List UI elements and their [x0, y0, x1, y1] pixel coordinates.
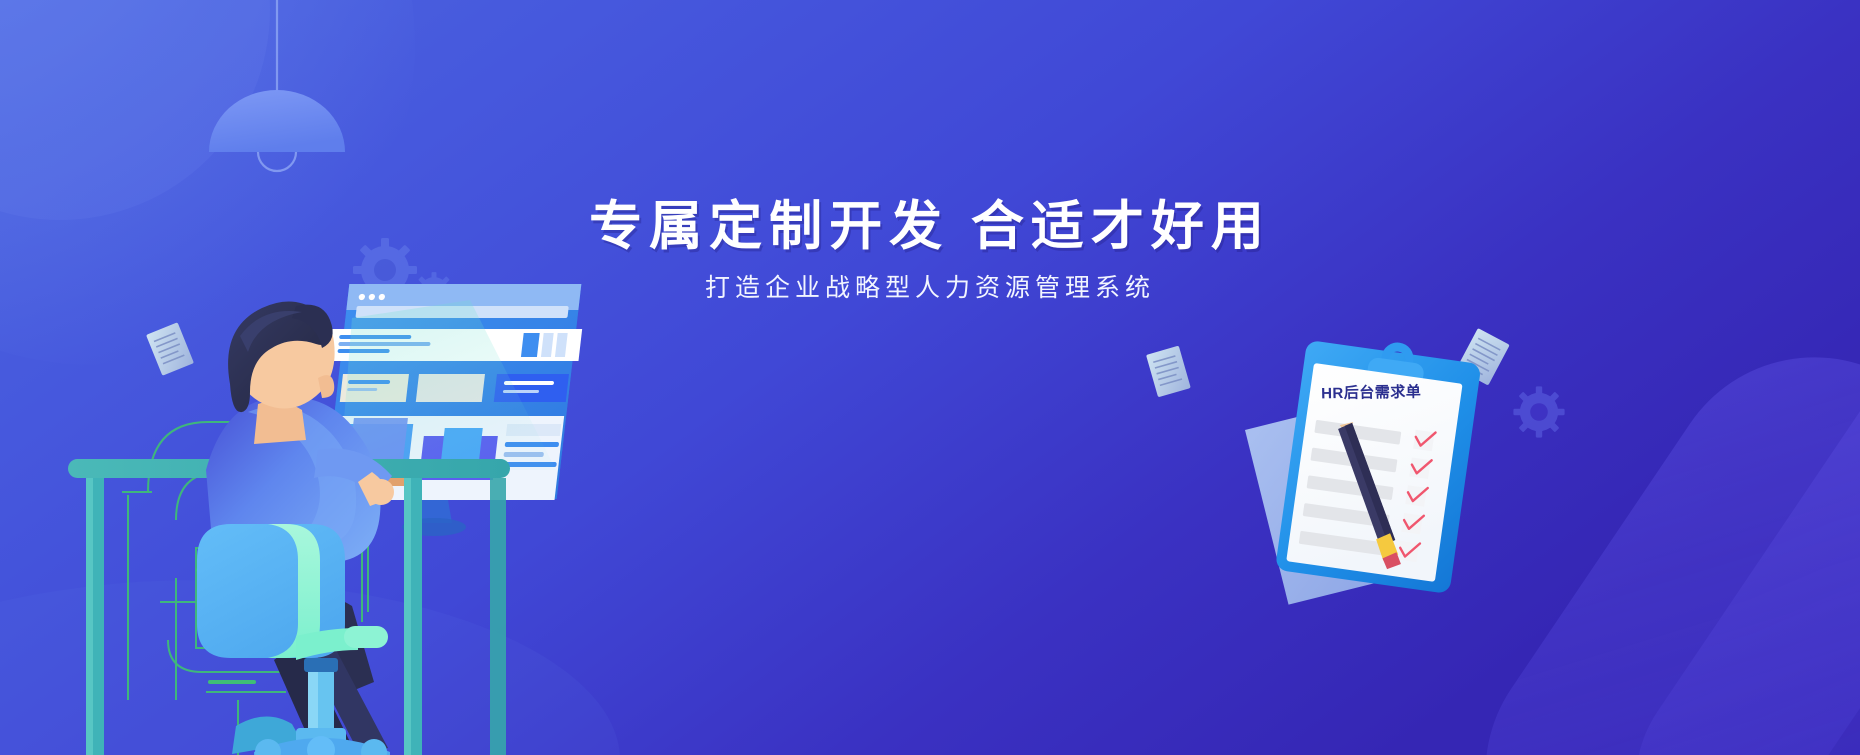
- page-subtitle: 打造企业战略型人力资源管理系统: [0, 272, 1860, 305]
- workstation-illustration: [0, 0, 1860, 755]
- hero-banner: HR后台需求单: [0, 0, 1860, 755]
- page-title: 专属定制开发 合适才好用: [0, 196, 1860, 257]
- hero-text-block: 专属定制开发 合适才好用 打造企业战略型人力资源管理系统: [0, 196, 1860, 305]
